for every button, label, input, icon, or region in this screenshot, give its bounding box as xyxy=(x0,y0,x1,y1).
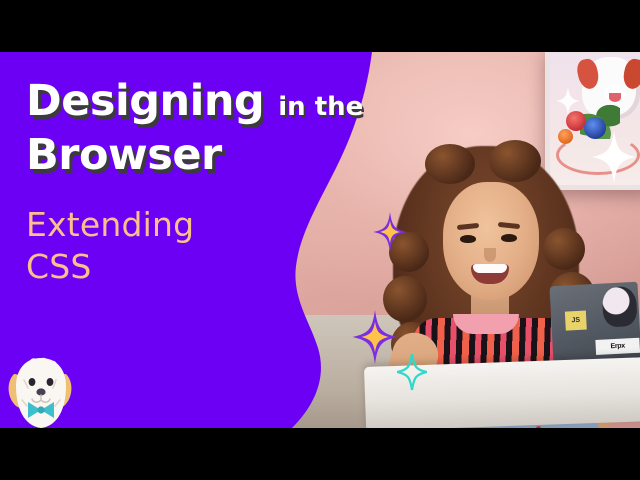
letterbox-top xyxy=(0,0,640,52)
title-line-one: Designing in the xyxy=(26,80,386,124)
letterbox-bottom xyxy=(0,428,640,480)
video-frame: JS Erpx CEN ⚒ xyxy=(0,52,640,428)
title-block: Designing in the Browser Extending CSS xyxy=(26,80,386,288)
video-thumbnail: JS Erpx CEN ⚒ xyxy=(0,0,640,480)
sparkle-teal xyxy=(396,352,428,392)
title-small-words: in the xyxy=(278,92,363,122)
sparkle-purple-gold-lower xyxy=(352,310,398,364)
title-second-word: Browser xyxy=(26,130,222,180)
subtitle-line-two: CSS xyxy=(26,246,386,288)
title-line-two: Browser xyxy=(26,134,386,178)
sparkle-white-large xyxy=(592,130,636,184)
subtitle-line-one: Extending xyxy=(26,204,386,246)
sparkle-white-small xyxy=(556,86,580,116)
dog-mascot xyxy=(4,354,78,428)
subtitle-block: Extending CSS xyxy=(26,204,386,288)
title-main-word: Designing xyxy=(26,80,264,124)
sparkle-purple-gold-upper xyxy=(373,212,407,252)
